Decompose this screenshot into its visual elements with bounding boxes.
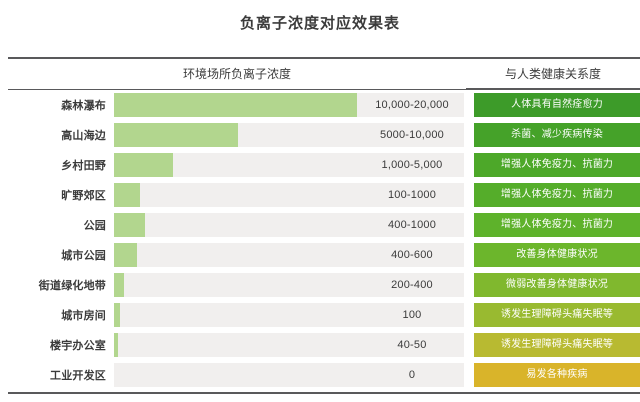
bar-fill [114,273,124,297]
table-bottom-border [8,392,640,394]
concentration-value: 200-400 [360,273,464,297]
bar-track [114,153,360,177]
concentration-value: 1,000-5,000 [360,153,464,177]
row-label: 城市房间 [8,307,114,323]
row-label: 工业开发区 [8,367,114,383]
health-effect-badge: 诱发生理障碍头痛失眠等 [474,303,640,327]
concentration-value: 400-600 [360,243,464,267]
table-body: 森林瀑布10,000-20,000人体具有自然痊愈力高山海边5000-10,00… [8,90,640,390]
table-row: 旷野郊区100-1000增强人体免疫力、抗菌力 [8,180,640,210]
chart-page: 负离子浓度对应效果表 环境场所负离子浓度 与人类健康关系度 森林瀑布10,000… [0,0,640,402]
concentration-value: 100-1000 [360,183,464,207]
column-gap [464,183,474,207]
table-row: 高山海边5000-10,000杀菌、减少疾病传染 [8,120,640,150]
concentration-value: 0 [360,363,464,387]
column-gap [464,363,474,387]
table-header-row: 环境场所负离子浓度 与人类健康关系度 [8,59,640,90]
table-row: 城市公园400-600改善身体健康状况 [8,240,640,270]
column-gap [464,333,474,357]
bar-fill [114,93,357,117]
bar-track [114,243,360,267]
page-title: 负离子浓度对应效果表 [0,14,640,34]
table-row: 乡村田野1,000-5,000增强人体免疫力、抗菌力 [8,150,640,180]
row-label: 城市公园 [8,247,114,263]
table-row: 森林瀑布10,000-20,000人体具有自然痊愈力 [8,90,640,120]
row-label: 旷野郊区 [8,187,114,203]
concentration-effect-table: 环境场所负离子浓度 与人类健康关系度 森林瀑布10,000-20,000人体具有… [8,57,640,394]
table-row: 公园400-1000增强人体免疫力、抗菌力 [8,210,640,240]
bar-track [114,333,360,357]
concentration-value: 40-50 [360,333,464,357]
row-label: 公园 [8,217,114,233]
row-label: 森林瀑布 [8,97,114,113]
concentration-value: 100 [360,303,464,327]
column-gap [464,93,474,117]
column-gap [464,153,474,177]
header-health-relation: 与人类健康关系度 [466,59,640,90]
table-row: 工业开发区0易发各种疾病 [8,360,640,390]
header-concentration: 环境场所负离子浓度 [8,59,466,90]
health-effect-badge: 增强人体免疫力、抗菌力 [474,183,640,207]
table-row: 街道绿化地带200-400微弱改善身体健康状况 [8,270,640,300]
bar-fill [114,123,238,147]
column-gap [464,243,474,267]
concentration-value: 400-1000 [360,213,464,237]
bar-track [114,123,360,147]
row-label: 乡村田野 [8,157,114,173]
bar-fill [114,303,120,327]
bar-track [114,303,360,327]
column-gap [464,213,474,237]
bar-fill [114,183,140,207]
bar-track [114,213,360,237]
health-effect-badge: 改善身体健康状况 [474,243,640,267]
column-gap [464,123,474,147]
health-effect-badge: 杀菌、减少疾病传染 [474,123,640,147]
bar-track [114,363,360,387]
bar-fill [114,333,118,357]
concentration-value: 5000-10,000 [360,123,464,147]
health-effect-badge: 增强人体免疫力、抗菌力 [474,153,640,177]
column-gap [464,303,474,327]
row-label: 街道绿化地带 [8,277,114,293]
bar-fill [114,213,145,237]
table-row: 城市房间100诱发生理障碍头痛失眠等 [8,300,640,330]
row-label: 楼宇办公室 [8,337,114,353]
bar-fill [114,243,137,267]
health-effect-badge: 人体具有自然痊愈力 [474,93,640,117]
health-effect-badge: 增强人体免疫力、抗菌力 [474,213,640,237]
health-effect-badge: 易发各种疾病 [474,363,640,387]
bar-track [114,93,360,117]
health-effect-badge: 诱发生理障碍头痛失眠等 [474,333,640,357]
bar-track [114,273,360,297]
column-gap [464,273,474,297]
bar-track [114,183,360,207]
row-label: 高山海边 [8,127,114,143]
health-effect-badge: 微弱改善身体健康状况 [474,273,640,297]
bar-fill [114,153,173,177]
concentration-value: 10,000-20,000 [360,93,464,117]
table-row: 楼宇办公室40-50诱发生理障碍头痛失眠等 [8,330,640,360]
